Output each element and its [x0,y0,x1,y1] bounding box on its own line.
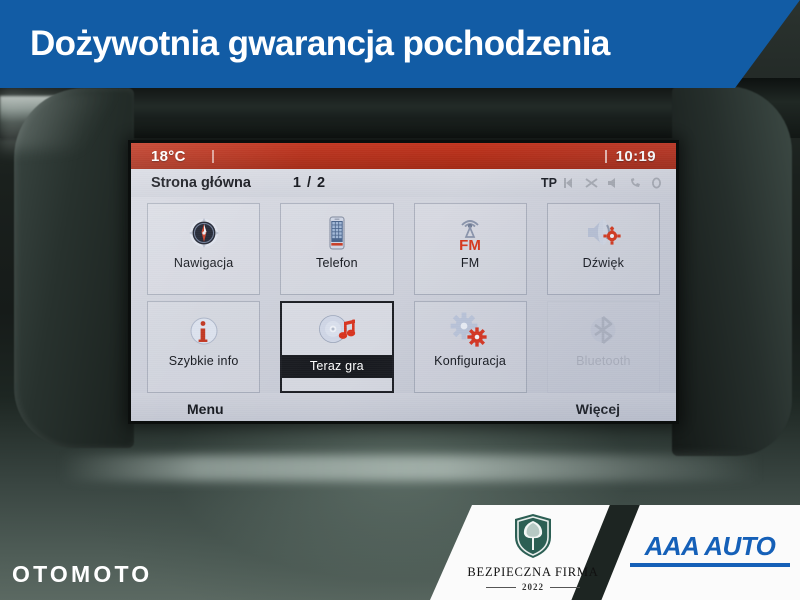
speaker-gear-icon [582,211,624,255]
tile-label: Konfiguracja [434,354,506,368]
shield-tree-icon [513,513,553,564]
dashboard-glare-streak [60,455,760,481]
screen-title: Strona główna [151,175,251,191]
screen-bezel-right [672,86,792,456]
page-indicator: 1 / 2 [293,175,326,191]
tile-szybkie-info[interactable]: Szybkie info [147,301,260,393]
fm-radio-tower-icon: FM [449,211,491,255]
aaa-auto-name: AAA AUTO [630,531,790,562]
traffic-program-label: TP [541,176,557,190]
shuffle-icon [585,177,598,189]
zero-icon [651,177,662,189]
tile-label: Szybkie info [169,354,239,368]
bezpieczna-firma-year: 2022 [522,582,544,592]
menu-button[interactable]: Menu [187,401,224,417]
clock: 10:19 [616,148,656,165]
tile-fm[interactable]: FM FM [414,203,527,295]
promo-banner-headline: Dożywotnia gwarancja pochodzenia [30,0,610,88]
bezpieczna-firma-name: BEZPIECZNA FIRMA [467,565,598,580]
tile-konfiguracja[interactable]: Konfiguracja [414,301,527,393]
info-icon [186,309,222,353]
media-skip-icon [563,177,576,189]
year-rule-right [550,587,580,588]
otomoto-watermark: OTOMOTO [12,561,152,588]
outside-temperature: 18°C [151,148,186,165]
tile-label: Telefon [316,256,358,270]
aaa-auto-logo: AAA AUTO [630,531,790,567]
mobile-phone-icon [319,211,355,255]
tile-label: Bluetooth [576,354,631,368]
dealer-badges: BEZPIECZNA FIRMA 2022 AAA AUTO [430,505,800,600]
promo-banner: Dożywotnia gwarancja pochodzenia [0,0,800,88]
aaa-auto-underline [630,563,790,567]
status-separator-left [212,150,214,163]
tile-teraz-gra[interactable]: Teraz gra [280,301,393,393]
phone-icon [629,177,642,189]
tile-telefon[interactable]: Telefon [280,203,393,295]
bluetooth-icon [585,309,621,353]
year-rule-left [486,587,516,588]
bezpieczna-firma-badge: BEZPIECZNA FIRMA 2022 [458,513,608,597]
mute-icon [607,177,620,189]
tile-label: Nawigacja [174,256,233,270]
sub-header-bar: Strona główna 1 / 2 TP [131,169,676,197]
tile-label: Teraz gra [282,355,391,378]
screen-bottom-bar: Menu Więcej [131,393,676,421]
tile-label: FM [461,256,479,270]
status-bar: 18°C 10:19 [131,143,676,169]
more-button[interactable]: Więcej [576,401,620,417]
status-separator-right [605,150,607,163]
compass-icon [186,211,222,255]
status-indicator-icons [563,177,662,189]
infotainment-screen[interactable]: 18°C 10:19 Strona główna 1 / 2 TP [131,143,676,421]
tile-bluetooth: Bluetooth [547,301,660,393]
tile-nawigacja[interactable]: Nawigacja [147,203,260,295]
gears-icon [449,309,491,353]
home-tile-grid: Nawigacja Telefon [131,197,676,393]
bezpieczna-firma-year-row: 2022 [486,582,580,592]
cd-music-note-icon [314,309,360,353]
screen-hood-shade [108,86,708,120]
tile-dzwiek[interactable]: Dźwięk [547,203,660,295]
tile-label: Dźwięk [583,256,624,270]
dashboard-highlight [0,90,130,150]
svg-text:FM: FM [459,237,481,253]
